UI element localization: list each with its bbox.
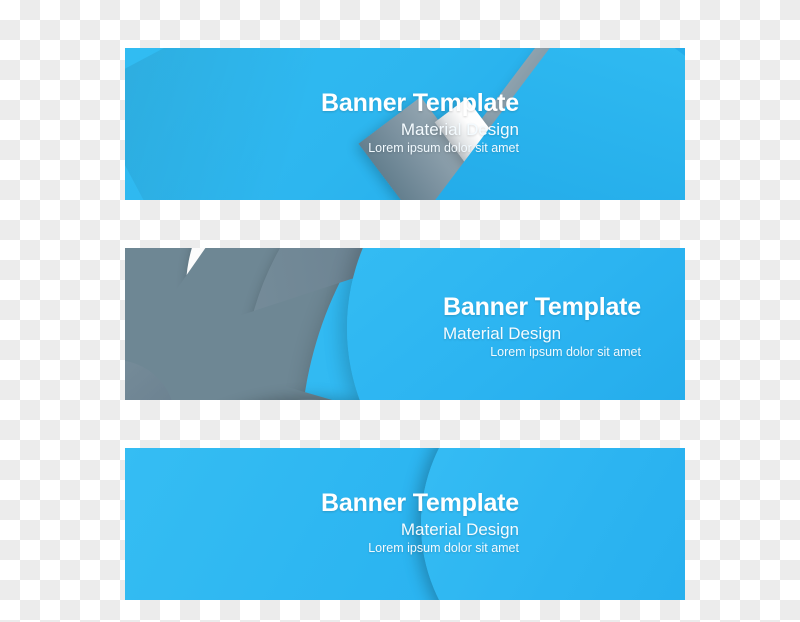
banner-1[interactable]: Banner Template Material Design Lorem ip… <box>125 48 685 200</box>
banner-3-text-block: Banner Template Material Design Lorem ip… <box>321 490 519 556</box>
artboard-canvas: Banner Template Material Design Lorem ip… <box>0 0 800 622</box>
banner-2-subtitle: Material Design <box>443 325 641 343</box>
banner-1-title: Banner Template <box>321 90 519 117</box>
banner-3[interactable]: Banner Template Material Design Lorem ip… <box>125 448 685 600</box>
banner-2-text-block: Banner Template Material Design Lorem ip… <box>443 294 641 360</box>
banner-2[interactable]: Banner Template Material Design Lorem ip… <box>125 248 685 400</box>
banner-2-title: Banner Template <box>443 294 641 321</box>
banner-1-text-block: Banner Template Material Design Lorem ip… <box>321 90 519 156</box>
banner-1-lorem: Lorem ipsum dolor sit amet <box>321 142 519 156</box>
banner-3-subtitle: Material Design <box>321 521 519 539</box>
banner-1-subtitle: Material Design <box>321 121 519 139</box>
banner-2-lorem: Lorem ipsum dolor sit amet <box>443 346 641 360</box>
banner-3-title: Banner Template <box>321 490 519 517</box>
banner-3-lorem: Lorem ipsum dolor sit amet <box>321 542 519 556</box>
